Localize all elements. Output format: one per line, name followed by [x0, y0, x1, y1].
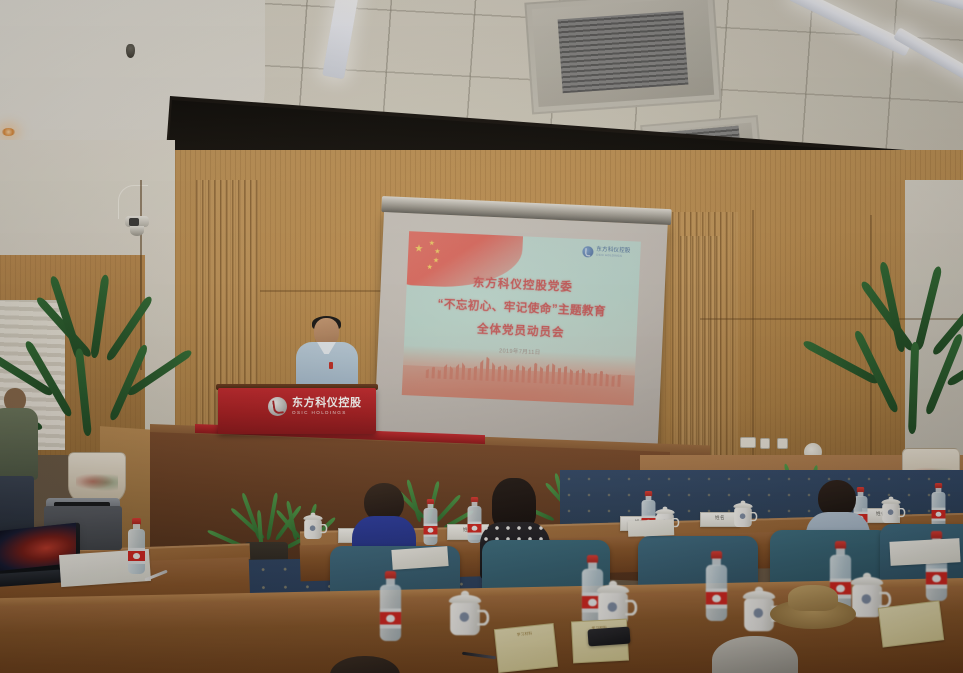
wall-power-outlet[interactable] — [777, 438, 788, 449]
standing-person-left — [0, 388, 38, 533]
foreground-head — [330, 656, 400, 673]
cup-emblem — [888, 509, 894, 515]
camera-lens — [129, 218, 139, 226]
standing-person-shirt — [0, 408, 38, 480]
water-bottle[interactable] — [424, 499, 438, 545]
hat-crown — [788, 585, 838, 611]
podium-logo: 东方科仪控股 OSIC HOLDINGS — [268, 397, 362, 416]
slide-headline-3: 全体党员动员会 — [405, 317, 637, 344]
security-camera-icon — [125, 216, 149, 236]
study-booklet[interactable]: 学习材料 — [494, 623, 558, 673]
speaker-person — [296, 318, 358, 390]
palm-frond — [908, 342, 919, 434]
slide-headline-2: “不忘初心、牢记使命”主题教育 — [406, 294, 638, 321]
plant-pot-left — [68, 452, 126, 504]
tea-cup[interactable] — [303, 515, 324, 539]
table-paper — [889, 538, 960, 566]
bottle-label — [932, 508, 946, 521]
bottle-label — [128, 548, 145, 564]
water-bottle[interactable] — [128, 518, 145, 574]
cup-handle — [477, 610, 489, 626]
bottle-label — [926, 569, 947, 589]
wall-power-outlet[interactable] — [740, 437, 756, 448]
cup-handle — [625, 600, 637, 616]
cup-handle — [320, 524, 327, 534]
study-booklet[interactable] — [878, 600, 944, 647]
osic-logo-mark-icon — [268, 397, 287, 416]
palm-frond — [75, 348, 92, 436]
tea-cup[interactable] — [881, 499, 902, 523]
cup-emblem — [608, 602, 617, 611]
booklet-label: 学习材料 — [495, 629, 553, 640]
slide-company-logo: 东方科仪控股 OSIC HOLDINGS — [582, 246, 631, 259]
mobile-phone[interactable] — [587, 627, 630, 647]
camera-mount — [130, 226, 144, 236]
slide-logo-en: OSIC HOLDINGS — [596, 254, 630, 258]
speaker-lapel-badge — [329, 362, 333, 369]
water-bottle[interactable] — [380, 571, 401, 641]
cup-handle — [898, 508, 905, 518]
wall-power-outlet[interactable] — [760, 438, 770, 449]
conference-room-photo: ★ ★ ★ ★ ★ 东方科仪控股 OSIC HOLDINGS 东方科仪控股党委 … — [0, 0, 963, 673]
table-paper — [628, 519, 675, 537]
pot-decoration — [76, 472, 119, 491]
presentation-slide: ★ ★ ★ ★ ★ 东方科仪控股 OSIC HOLDINGS 东方科仪控股党委 … — [402, 231, 641, 405]
cup-handle — [879, 592, 891, 608]
water-bottle[interactable] — [932, 483, 946, 529]
palm-frond — [90, 274, 110, 358]
wall-slat-section — [680, 236, 720, 466]
cup-emblem — [754, 608, 763, 617]
ac-grille — [557, 11, 688, 93]
wall-seam — [260, 290, 390, 292]
bottle-label — [706, 589, 727, 609]
tea-cup[interactable] — [447, 595, 482, 636]
podium-logo-en: OSIC HOLDINGS — [292, 411, 362, 416]
ceiling-cassette-ac — [524, 0, 721, 114]
cup-emblem — [862, 594, 871, 603]
wall-seam — [752, 210, 754, 460]
bottle-label — [380, 609, 401, 629]
ceiling-spotlight — [2, 128, 15, 136]
foreground-person — [712, 636, 798, 673]
cup-handle — [750, 512, 757, 522]
cup-emblem — [460, 612, 469, 621]
osic-logo-mark-icon — [582, 246, 593, 257]
sprinkler-head — [126, 44, 135, 58]
slide-hill-gradient — [402, 364, 641, 405]
foreground-head — [712, 636, 798, 673]
foreground-person — [330, 656, 400, 673]
table-paper — [391, 546, 448, 570]
slide-headline-1: 东方科仪控股党委 — [407, 271, 639, 298]
water-bottle[interactable] — [706, 551, 727, 621]
projection-screen: ★ ★ ★ ★ ★ 东方科仪控股 OSIC HOLDINGS 东方科仪控股党委 … — [373, 212, 668, 468]
palm-frond — [914, 266, 943, 351]
palm-plant-right — [862, 258, 963, 458]
tea-cup[interactable] — [733, 503, 754, 527]
podium-logo-cn: 东方科仪控股 — [292, 398, 362, 410]
camera-cable-loop — [118, 185, 148, 219]
straw-hat — [770, 585, 856, 629]
palm-plant-left — [28, 268, 158, 448]
bottle-label — [424, 524, 438, 537]
standing-person-legs — [0, 476, 34, 534]
slide-skyline-graphic — [402, 345, 636, 405]
cup-emblem — [310, 525, 316, 531]
cup-emblem — [740, 513, 746, 519]
podium-banner: 东方科仪控股 OSIC HOLDINGS — [218, 388, 376, 434]
